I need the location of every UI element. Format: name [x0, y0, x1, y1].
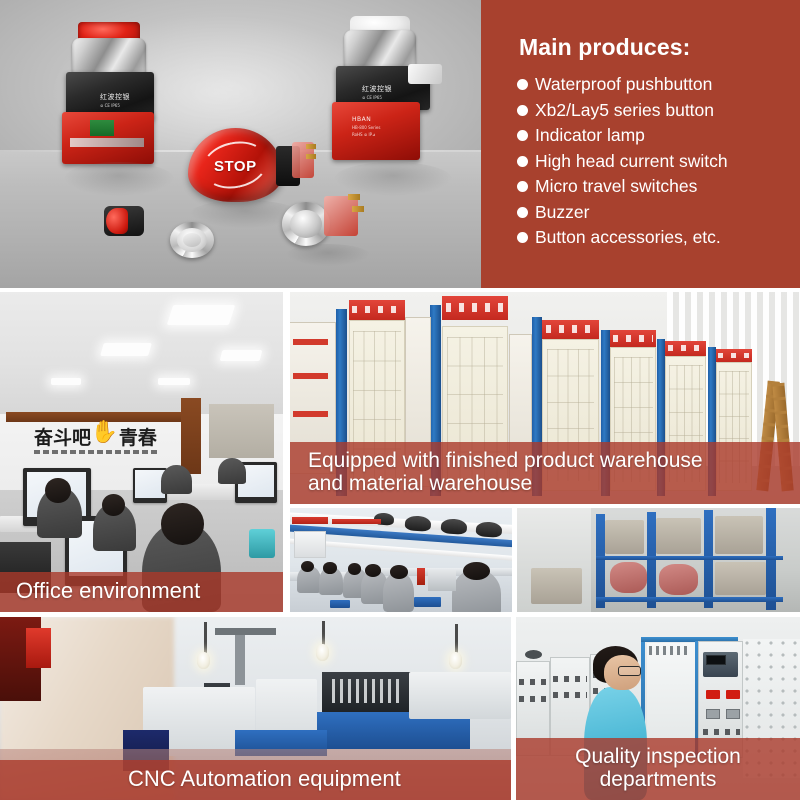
list-item: Indicator lamp: [517, 123, 728, 149]
test-station: [428, 570, 457, 591]
rig-label: [649, 646, 689, 655]
ceiling-light: [100, 343, 152, 356]
wall-sign: [292, 517, 328, 523]
glasses-icon: [618, 666, 641, 675]
instrument-display: [706, 655, 726, 664]
rack-sign: [349, 300, 405, 319]
caption-line: Office environment: [16, 579, 283, 604]
window-blind: [209, 404, 274, 458]
cabinet-controls: [519, 696, 547, 702]
enclosure-vents: [332, 679, 404, 703]
rack-sign: [442, 296, 508, 319]
shelf-beam: [596, 556, 783, 560]
bullet-dot-icon: [517, 105, 528, 116]
worker-head: [390, 565, 408, 579]
pendant-cord: [322, 621, 325, 647]
cell-material-storage: [517, 508, 800, 612]
caption-office-environment: Office environment: [0, 572, 283, 612]
list-item: High head current switch: [517, 149, 728, 175]
socket: [726, 709, 740, 720]
pendant-cord: [204, 622, 207, 653]
cabinet-controls: [519, 679, 547, 685]
wall-sign: [332, 519, 381, 523]
cell-assembly-line: [290, 508, 512, 612]
cell-warehouse: Equipped with finished product warehouse…: [290, 292, 800, 504]
list-item-label: Micro travel switches: [535, 176, 697, 197]
caption-line: CNC Automation equipment: [128, 767, 511, 792]
cell-quality-inspection: Quality inspection departments: [516, 617, 800, 800]
material-sack: [659, 564, 699, 595]
person: [218, 458, 246, 484]
status-led: [726, 690, 740, 699]
socket: [706, 709, 720, 720]
person-head: [102, 494, 125, 516]
rack-sign: [542, 320, 598, 339]
worker-head: [463, 562, 490, 580]
cell-cnc-automation: CNC Automation equipment: [0, 617, 511, 800]
product-photo: 红波控银 ⊜ CE IP65 红波控银 ⊜ CE IP65 HBAN HB-80…: [0, 0, 481, 288]
panel-title: Main produces:: [519, 34, 690, 61]
rack-sign: [716, 349, 752, 362]
machine-mast: [235, 630, 245, 685]
wall-subtext: [34, 450, 159, 454]
cabinet-controls: [553, 676, 587, 682]
shelf-upright: [647, 512, 656, 608]
caption-warehouse: Equipped with finished product warehouse…: [290, 442, 800, 504]
stored-goods: [605, 520, 645, 553]
caption-quality-inspection: Quality inspection departments: [516, 738, 800, 800]
shelf-beam: [596, 597, 783, 601]
pendant-cord: [455, 624, 458, 653]
stored-goods: [531, 568, 582, 603]
switch-small-red-indicator: [104, 204, 146, 242]
cell-office-environment: 奋斗吧 ✋ 青春 Office environment: [0, 292, 283, 612]
wall-calligraphy-accent: ✋: [91, 420, 118, 445]
carton-label: [293, 339, 329, 345]
machine-indicator: [417, 568, 426, 585]
wall-poster: [26, 628, 52, 668]
ceiling-light: [51, 378, 81, 385]
list-item-label: Xb2/Lay5 series button: [535, 100, 714, 121]
top-row: 红波控银 ⊜ CE IP65 红波控银 ⊜ CE IP65 HBAN HB-80…: [0, 0, 800, 288]
parts-bin: [414, 597, 441, 606]
main-produces-panel: Main produces: Waterproof pushbutton Xb2…: [481, 0, 800, 288]
bullet-dot-icon: [517, 130, 528, 141]
reflection-4: [286, 244, 370, 266]
switch-metal-terminal: [282, 192, 372, 252]
company-profile-collage: 红波控银 ⊜ CE IP65 红波控银 ⊜ CE IP65 HBAN HB-80…: [0, 0, 800, 800]
bullet-dot-icon: [517, 181, 528, 192]
person-head: [161, 503, 203, 545]
carton-label: [293, 373, 329, 379]
pendant-lamp: [197, 652, 210, 669]
pendant-lamp: [316, 644, 329, 661]
rack-sign: [665, 341, 706, 356]
switch-white-ring: [170, 222, 218, 262]
worker-head: [323, 562, 336, 573]
bullet-dot-icon: [517, 207, 528, 218]
list-item-label: Indicator lamp: [535, 125, 645, 146]
worker-head: [365, 564, 381, 576]
status-led: [706, 690, 720, 699]
carton-label: [293, 411, 329, 417]
switch-white-flush: 红波控银 ⊜ CE IP65 HBAN HB-800 Series RoHS ⊜…: [330, 16, 450, 166]
cabinet-controls: [703, 729, 740, 735]
person-head: [45, 478, 70, 504]
shelf-upright: [596, 514, 604, 608]
desk-object: [249, 529, 274, 558]
reflection-2: [334, 162, 452, 196]
list-item-label: High head current switch: [535, 151, 728, 172]
list-item: Buzzer: [517, 200, 728, 226]
machine-gantry: [215, 628, 276, 635]
caption-line: Quality inspection: [516, 745, 800, 769]
person: [161, 465, 192, 494]
parts-bin: [330, 600, 350, 608]
switch-red-illuminated: 红波控银 ⊜ CE IP65: [60, 20, 170, 165]
wall-calligraphy: 青春: [119, 423, 157, 450]
stored-goods: [656, 518, 701, 553]
list-item: Button accessories, etc.: [517, 225, 728, 251]
caption-line: departments: [516, 768, 800, 792]
list-item: Xb2/Lay5 series button: [517, 98, 728, 124]
caption-line: Equipped with finished product warehouse: [308, 449, 800, 473]
stored-goods: [715, 562, 766, 595]
bullet-dot-icon: [517, 232, 528, 243]
ceiling-light: [167, 305, 235, 325]
bullet-dot-icon: [517, 156, 528, 167]
ceiling-light: [158, 378, 190, 385]
bullet-dot-icon: [517, 79, 528, 90]
cabinet-gauge: [525, 650, 542, 659]
worker-head: [348, 563, 361, 574]
ceiling-light: [219, 350, 262, 361]
caption-cnc-automation: CNC Automation equipment: [0, 760, 511, 800]
caption-line: and material warehouse: [308, 472, 800, 496]
cnc-machine: [409, 672, 511, 720]
wall-calligraphy: 奋斗吧: [34, 423, 91, 450]
stored-goods: [715, 516, 763, 553]
list-item: Micro travel switches: [517, 174, 728, 200]
wall-column: [181, 398, 201, 475]
list-item-label: Buzzer: [535, 202, 589, 223]
material-sack: [610, 562, 647, 593]
list-item-label: Waterproof pushbutton: [535, 74, 712, 95]
notice-board: [294, 531, 325, 558]
pendant-lamp: [449, 652, 462, 669]
list-item-label: Button accessories, etc.: [535, 227, 721, 248]
reflection-1: [64, 162, 174, 196]
produces-list: Waterproof pushbutton Xb2/Lay5 series bu…: [517, 72, 728, 251]
cabinet-controls: [553, 692, 587, 698]
list-item: Waterproof pushbutton: [517, 72, 728, 98]
rack-sign: [610, 330, 656, 347]
